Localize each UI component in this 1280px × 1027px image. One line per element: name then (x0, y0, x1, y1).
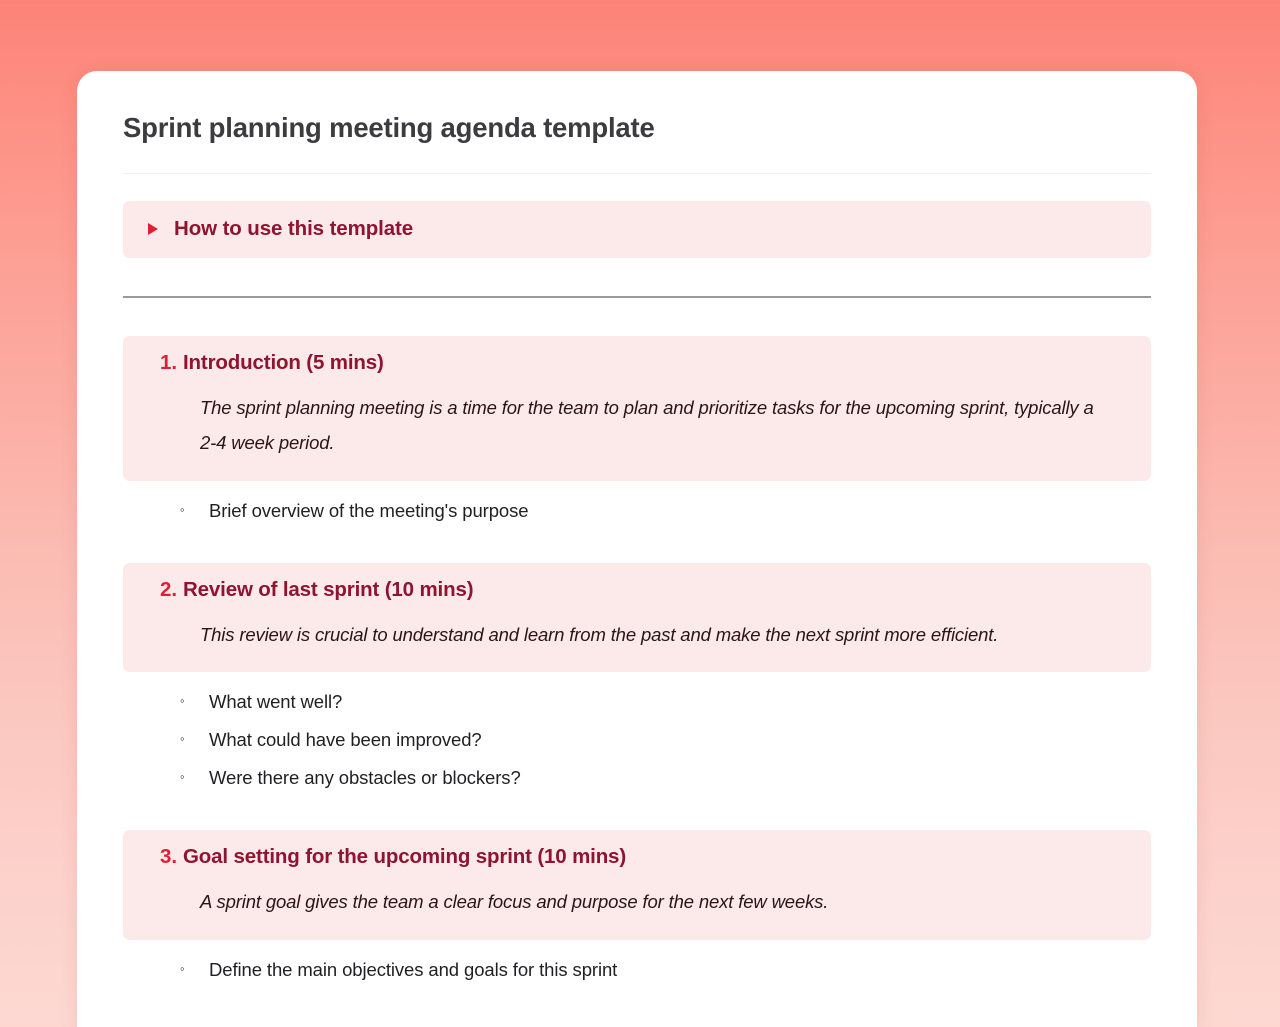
section-heading: 3. Goal setting for the upcoming sprint … (143, 845, 1131, 869)
section-bullet-list: ◦ Brief overview of the meeting's purpos… (123, 498, 1151, 525)
list-item: ◦ Were there any obstacles or blockers? (180, 765, 1151, 792)
section-bullet-list: ◦ What went well? ◦ What could have been… (123, 689, 1151, 791)
section-number: 3. (143, 845, 183, 869)
section-heading: 1. Introduction (5 mins) (143, 351, 1131, 375)
section-bullet-list: ◦ Define the main objectives and goals f… (123, 957, 1151, 984)
agenda-section-3: 3. Goal setting for the upcoming sprint … (123, 830, 1151, 984)
list-item-label: Were there any obstacles or blockers? (209, 765, 1151, 792)
list-item: ◦ What went well? (180, 689, 1151, 716)
triangle-right-icon[interactable] (148, 223, 158, 235)
section-title: Goal setting for the upcoming sprint (10… (183, 845, 626, 869)
section-divider (123, 296, 1151, 298)
section-block: 2. Review of last sprint (10 mins) This … (123, 563, 1151, 673)
document-body: Sprint planning meeting agenda template … (77, 71, 1197, 984)
bullet-circle-icon: ◦ (180, 765, 209, 790)
title-divider (123, 173, 1151, 174)
section-block: 3. Goal setting for the upcoming sprint … (123, 830, 1151, 940)
list-item: ◦ Brief overview of the meeting's purpos… (180, 498, 1151, 525)
section-heading: 2. Review of last sprint (10 mins) (143, 578, 1131, 602)
agenda-section-1: 1. Introduction (5 mins) The sprint plan… (123, 336, 1151, 524)
section-description: A sprint goal gives the team a clear foc… (143, 885, 1131, 920)
list-item-label: What went well? (209, 689, 1151, 716)
list-item-label: Define the main objectives and goals for… (209, 957, 1151, 984)
list-item: ◦ What could have been improved? (180, 727, 1151, 754)
bullet-circle-icon: ◦ (180, 957, 209, 982)
section-description: The sprint planning meeting is a time fo… (143, 391, 1131, 461)
list-item: ◦ Define the main objectives and goals f… (180, 957, 1151, 984)
how-to-use-collapsible[interactable]: How to use this template (123, 201, 1151, 258)
bullet-circle-icon: ◦ (180, 727, 209, 752)
section-description: This review is crucial to understand and… (143, 618, 1131, 653)
section-title: Introduction (5 mins) (183, 351, 384, 375)
section-number: 2. (143, 578, 183, 602)
page-title: Sprint planning meeting agenda template (123, 71, 1151, 145)
bullet-circle-icon: ◦ (180, 498, 209, 523)
list-item-label: Brief overview of the meeting's purpose (209, 498, 1151, 525)
agenda-section-2: 2. Review of last sprint (10 mins) This … (123, 563, 1151, 792)
section-number: 1. (143, 351, 183, 375)
section-title: Review of last sprint (10 mins) (183, 578, 473, 602)
document-card: Sprint planning meeting agenda template … (77, 71, 1197, 1027)
bullet-circle-icon: ◦ (180, 689, 209, 714)
section-block: 1. Introduction (5 mins) The sprint plan… (123, 336, 1151, 481)
collapsible-label: How to use this template (174, 217, 413, 241)
list-item-label: What could have been improved? (209, 727, 1151, 754)
